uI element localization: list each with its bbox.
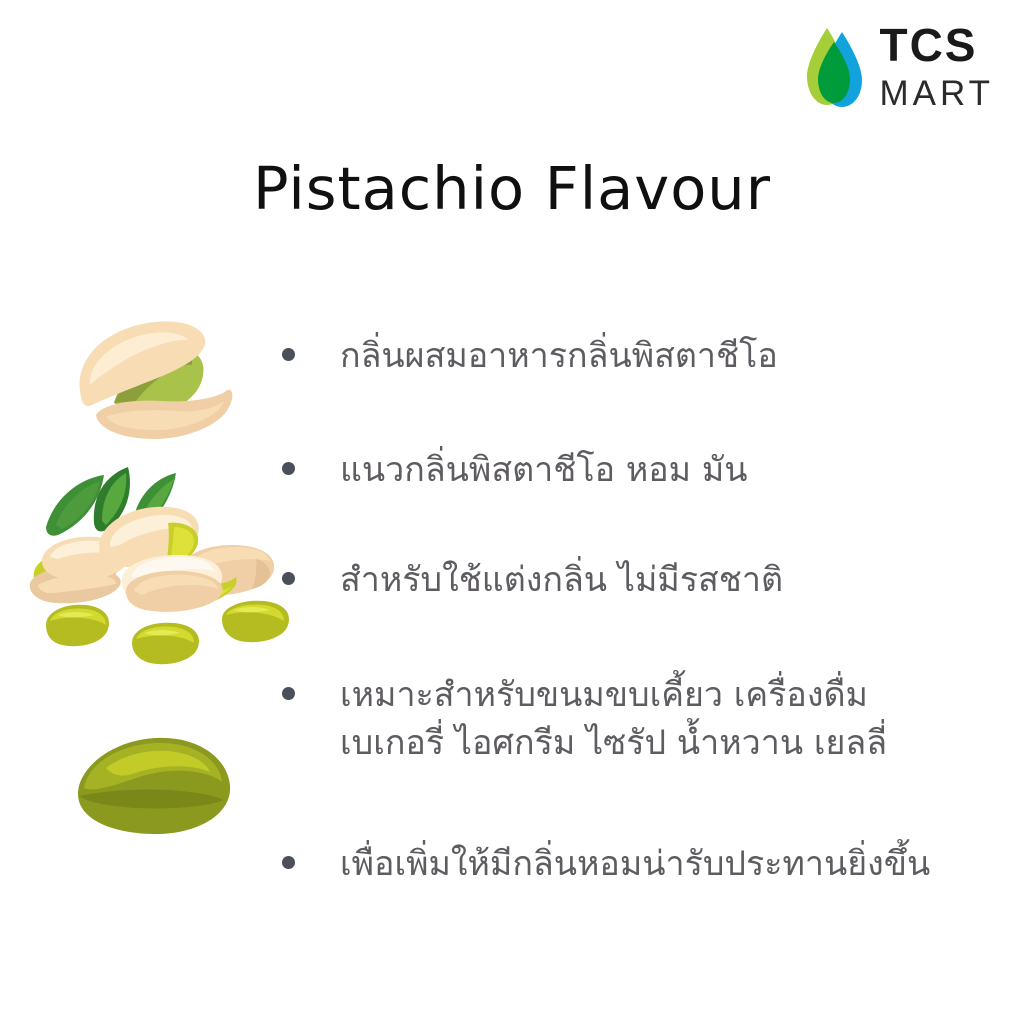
brand-name-bottom: MART: [879, 76, 994, 111]
bullet-dot-icon: [282, 348, 295, 361]
pistachio-kernel-icon: [70, 730, 240, 840]
illustration-column: [0, 280, 290, 880]
list-item: เพื่อเพิ่มให้มีกลิ่นหอมน่ารับประทานยิ่งข…: [282, 840, 930, 888]
list-item: แนวกลิ่นพิสตาชีโอ หอม มัน: [282, 446, 748, 494]
poster-canvas: TCS MART Pistachio Flavour: [0, 0, 1024, 1024]
list-item-label: สำหรับใช้แต่งกลิ่น ไม่มีรสชาติ: [340, 556, 783, 604]
bullet-dot-icon: [282, 687, 295, 700]
bullet-dot-icon: [282, 572, 295, 585]
brand-name-top: TCS: [879, 22, 994, 68]
brand-wordmark: TCS MART: [879, 22, 994, 111]
list-item-label: เพื่อเพิ่มให้มีกลิ่นหอมน่ารับประทานยิ่งข…: [340, 840, 930, 888]
page-title: Pistachio Flavour: [0, 154, 1024, 223]
water-droplet-logo-icon: [801, 24, 867, 110]
list-item-label: เหมาะสำหรับขนมขบเคี้ยว เครื่องดื่ม เบเกอ…: [340, 671, 887, 768]
list-item: เหมาะสำหรับขนมขบเคี้ยว เครื่องดื่ม เบเกอ…: [282, 671, 887, 768]
list-item: กลิ่นผสมอาหารกลิ่นพิสตาชีโอ: [282, 332, 778, 380]
brand-logo: TCS MART: [801, 22, 994, 111]
open-pistachio-shell-icon: [62, 305, 247, 455]
list-item: สำหรับใช้แต่งกลิ่น ไม่มีรสชาติ: [282, 556, 783, 604]
list-item-label: แนวกลิ่นพิสตาชีโอ หอม มัน: [340, 446, 748, 494]
pistachio-cluster-icon: [28, 465, 298, 670]
list-item-label: กลิ่นผสมอาหารกลิ่นพิสตาชีโอ: [340, 332, 778, 380]
bullet-dot-icon: [282, 856, 295, 869]
bullet-dot-icon: [282, 462, 295, 475]
